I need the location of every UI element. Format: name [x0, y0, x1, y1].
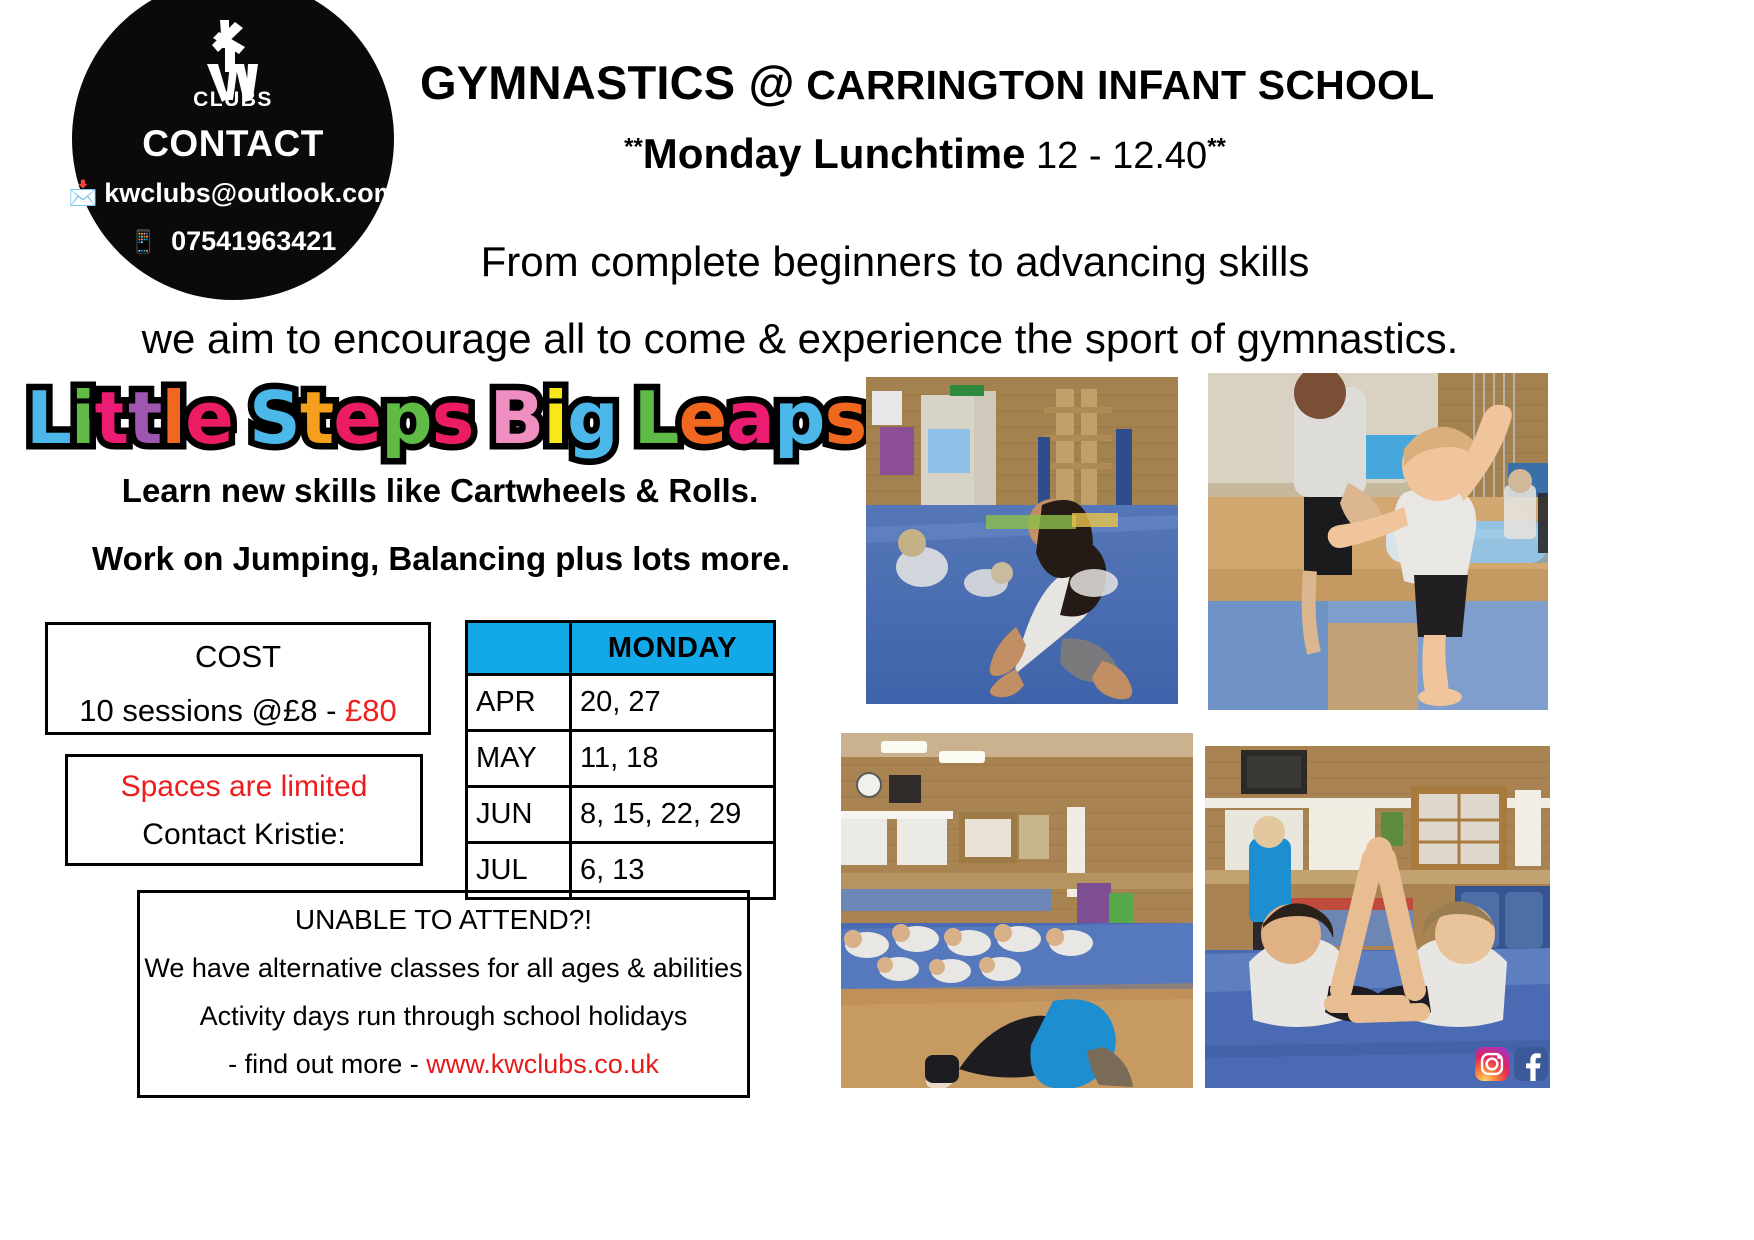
wordmark-letter-18: e	[679, 382, 727, 454]
page-subtitle: **Monday Lunchtime 12 - 12.40**	[420, 130, 1430, 178]
wordmark-letter-7: S	[249, 382, 300, 454]
cost-amount: £80	[345, 693, 397, 728]
photo-balance-beam	[1208, 373, 1548, 710]
kw-clubs-wordmark: CLUBS	[72, 88, 394, 112]
page-title-rest: CARRINGTON INFANT SCHOOL	[806, 62, 1434, 108]
schedule-dates: 8, 15, 22, 29	[571, 787, 775, 843]
cost-detail-row: 10 sessions @£8 - £80	[48, 693, 428, 729]
contact-heading: CONTACT	[72, 123, 394, 165]
schedule-dates: 20, 27	[571, 675, 775, 731]
subtitle-time: 12 - 12.40	[1036, 135, 1207, 177]
wordmark-letter-20: p	[774, 382, 825, 454]
schedule-month: APR	[467, 675, 571, 731]
contact-phone: 07541963421	[171, 226, 336, 257]
wordmark-letter-5: e	[185, 382, 233, 454]
wordmark-space	[473, 382, 489, 454]
contact-email-row[interactable]: 📩 kwclubs@outlook.com	[72, 178, 394, 209]
unable-to-attend-box: UNABLE TO ATTEND?! We have alternative c…	[137, 890, 750, 1098]
unable-title: UNABLE TO ATTEND?!	[140, 904, 747, 936]
tagline-1: Learn new skills like Cartwheels & Rolls…	[60, 472, 820, 510]
wordmark-letter-21: s	[824, 382, 866, 454]
wordmark-letter-1: i	[71, 382, 95, 454]
intro-line-1: From complete beginners to advancing ski…	[330, 238, 1460, 286]
wordmark-letter-14: i	[543, 382, 567, 454]
tagline-2: Work on Jumping, Balancing plus lots mor…	[36, 540, 846, 578]
schedule-dates: 11, 18	[571, 731, 775, 787]
wordmark-space	[233, 382, 249, 454]
photo-group-floor-work	[841, 733, 1193, 1088]
envelope-icon: 📩	[68, 182, 98, 206]
subtitle-day: Monday Lunchtime	[643, 130, 1026, 177]
social-links	[1475, 1047, 1548, 1081]
schedule-table: MONDAY APR20, 27MAY11, 18JUN8, 15, 22, 2…	[465, 620, 776, 900]
schedule-header-monday: MONDAY	[571, 622, 775, 675]
unable-line-1: We have alternative classes for all ages…	[140, 953, 747, 984]
wordmark-letter-3: t	[128, 382, 161, 454]
photo-backbend-stretch	[866, 377, 1178, 704]
schedule-month: JUN	[467, 787, 571, 843]
page-title-lead: GYMNASTICS @	[420, 56, 795, 109]
find-out-more-prefix: - find out more -	[228, 1049, 426, 1079]
schedule-row: APR20, 27	[467, 675, 775, 731]
intro-line-2: we aim to encourage all to come & experi…	[60, 315, 1540, 363]
spaces-limited-text: Spaces are limited	[68, 770, 420, 804]
wordmark-letter-11: s	[432, 382, 474, 454]
contact-kristie-text: Contact Kristie:	[68, 818, 420, 852]
cost-detail: 10 sessions @£8 -	[79, 693, 345, 728]
facebook-icon[interactable]	[1514, 1047, 1548, 1081]
schedule-header-blank	[467, 622, 571, 675]
page-title: GYMNASTICS @ CARRINGTON INFANT SCHOOL	[420, 55, 1430, 110]
photo-partner-balance	[1205, 746, 1550, 1088]
mobile-phone-icon: 📱	[130, 231, 157, 253]
website-link[interactable]: www.kwclubs.co.uk	[426, 1049, 659, 1079]
cost-box: COST 10 sessions @£8 - £80	[45, 622, 431, 735]
unable-line-3: - find out more - www.kwclubs.co.uk	[140, 1049, 747, 1080]
wordmark-letter-10: p	[381, 382, 432, 454]
schedule-month: MAY	[467, 731, 571, 787]
schedule-header-row: MONDAY	[467, 622, 775, 675]
wordmark-letter-13: B	[489, 382, 543, 454]
wordmark-letter-17: L	[634, 382, 679, 454]
wordmark-letter-9: e	[333, 382, 381, 454]
wordmark-letter-8: t	[300, 382, 333, 454]
wordmark-letter-2: t	[95, 382, 128, 454]
wordmark-letter-4: l	[161, 382, 185, 454]
wordmark-letter-0: L	[26, 382, 71, 454]
little-steps-big-leaps-wordmark: Little Steps Big Leaps	[26, 382, 866, 454]
contact-badge: CLUBS CONTACT 📩 kwclubs@outlook.com 📱 07…	[72, 0, 394, 300]
schedule-row: JUN8, 15, 22, 29	[467, 787, 775, 843]
subtitle-stars-right: **	[1207, 133, 1226, 160]
wordmark-letter-19: a	[726, 382, 774, 454]
cost-title: COST	[48, 639, 428, 675]
schedule-row: MAY11, 18	[467, 731, 775, 787]
unable-line-2: Activity days run through school holiday…	[140, 1001, 747, 1032]
wordmark-space	[618, 382, 634, 454]
contact-phone-row[interactable]: 📱 07541963421	[72, 226, 394, 257]
spaces-limited-box: Spaces are limited Contact Kristie:	[65, 754, 423, 866]
instagram-icon[interactable]	[1475, 1047, 1509, 1081]
subtitle-stars-left: **	[624, 133, 643, 160]
wordmark-letter-15: g	[567, 382, 618, 454]
contact-email: kwclubs@outlook.com	[104, 178, 397, 209]
